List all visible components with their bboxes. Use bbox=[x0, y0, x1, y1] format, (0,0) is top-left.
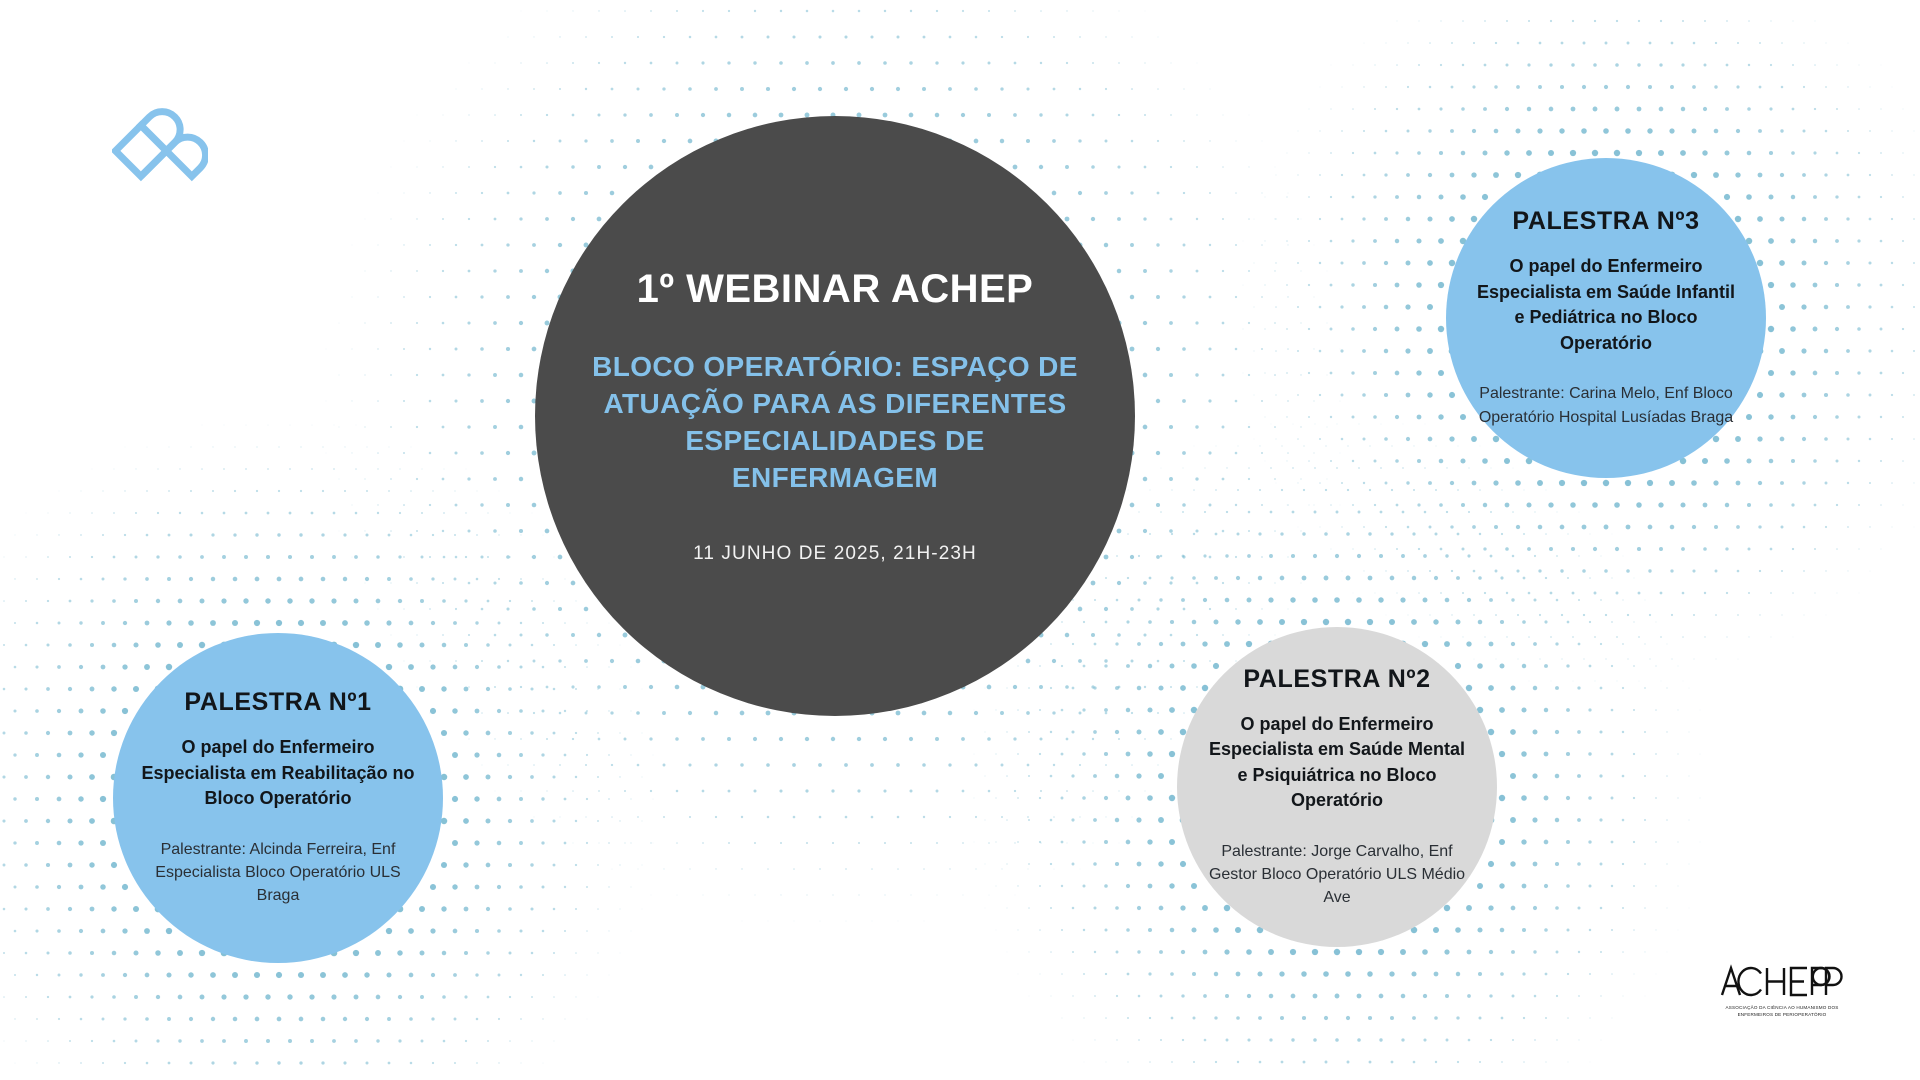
webinar-poster: 1º WEBINAR ACHEP BLOCO OPERATÓRIO: ESPAÇ… bbox=[0, 0, 1920, 1080]
achep-tagline: ASSOCIAÇÃO DA CIÊNCIA AO HUMANISMO DOS E… bbox=[1720, 1005, 1844, 1019]
talk-1-topic: O papel do Enfermeiro Especialista em Re… bbox=[139, 735, 417, 812]
talk-3-topic: O papel do Enfermeiro Especialista em Sa… bbox=[1472, 254, 1740, 356]
page-title: 1º WEBINAR ACHEP bbox=[637, 267, 1034, 311]
achep-wordmark-icon bbox=[1720, 962, 1844, 1000]
talk-1-speaker: Palestrante: Alcinda Ferreira, Enf Espec… bbox=[139, 838, 417, 908]
talk-3-speaker: Palestrante: Carina Melo, Enf Bloco Oper… bbox=[1472, 382, 1740, 428]
talk-2-topic: O papel do Enfermeiro Especialista em Sa… bbox=[1203, 712, 1471, 814]
talk-1-label: PALESTRA Nº1 bbox=[184, 688, 371, 717]
achep-logo: ASSOCIAÇÃO DA CIÊNCIA AO HUMANISMO DOS E… bbox=[1712, 938, 1852, 1042]
talk-circle-2: PALESTRA Nº2 O papel do Enfermeiro Espec… bbox=[1177, 627, 1497, 947]
talk-3-label: PALESTRA Nº3 bbox=[1512, 207, 1699, 236]
talk-circle-1: PALESTRA Nº1 O papel do Enfermeiro Espec… bbox=[113, 633, 443, 963]
achep-monogram-icon bbox=[112, 98, 208, 208]
talk-2-speaker: Palestrante: Jorge Carvalho, Enf Gestor … bbox=[1203, 840, 1471, 910]
hero-circle: 1º WEBINAR ACHEP BLOCO OPERATÓRIO: ESPAÇ… bbox=[535, 116, 1135, 716]
talk-circle-3: PALESTRA Nº3 O papel do Enfermeiro Espec… bbox=[1446, 158, 1766, 478]
talk-2-label: PALESTRA Nº2 bbox=[1243, 665, 1430, 694]
event-date: 11 JUNHO DE 2025, 21H-23H bbox=[693, 543, 977, 565]
hero-subtitle: BLOCO OPERATÓRIO: ESPAÇO DE ATUAÇÃO PARA… bbox=[583, 349, 1087, 497]
